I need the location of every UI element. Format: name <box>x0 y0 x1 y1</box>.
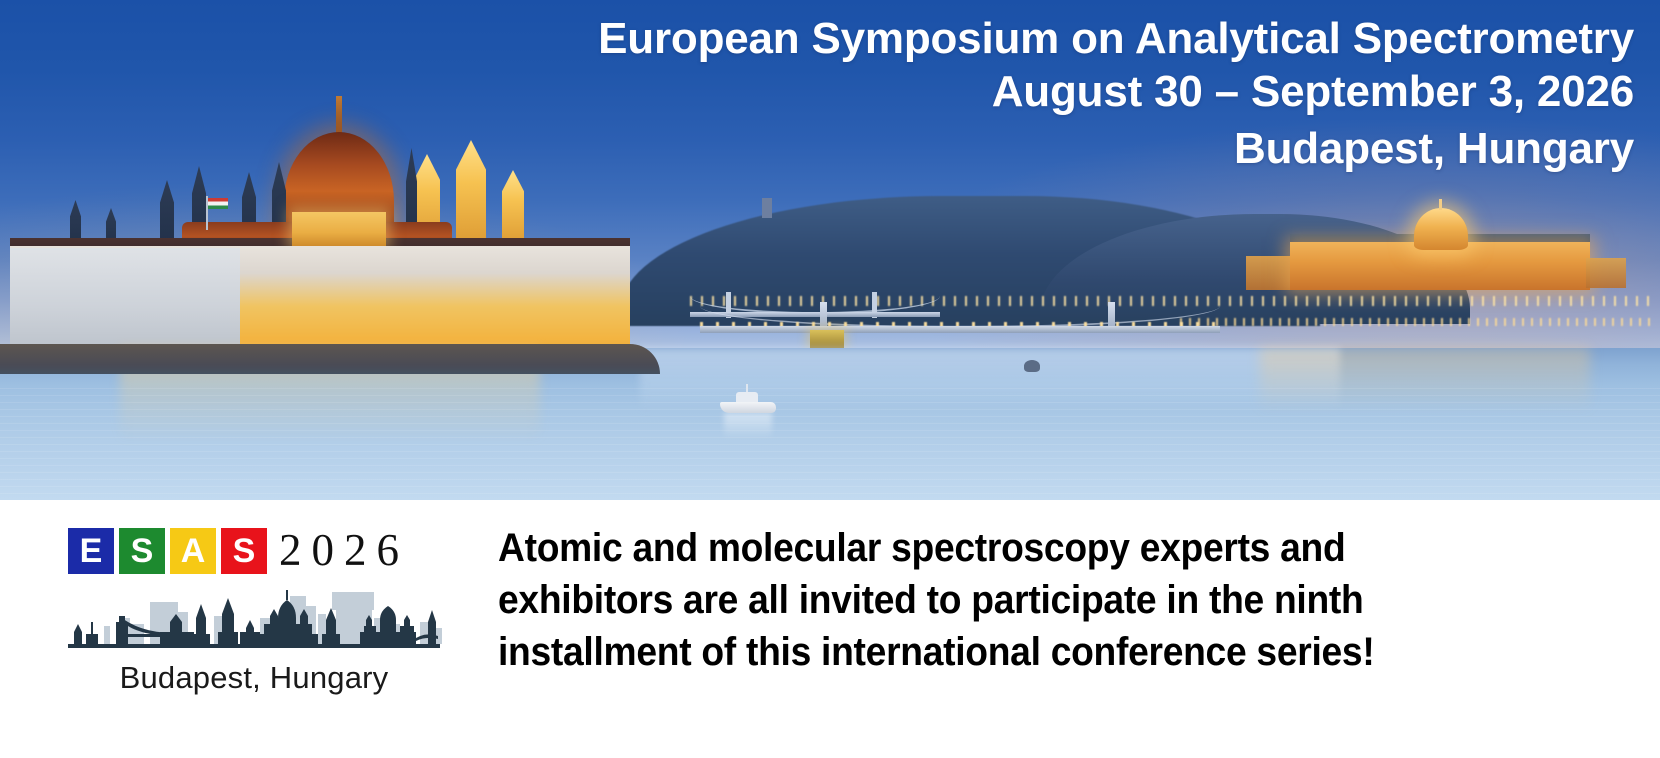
conference-banner: European Symposium on Analytical Spectro… <box>0 0 1660 758</box>
budapest-skyline-icon <box>64 588 444 650</box>
chain-bridge-deck <box>700 326 1220 333</box>
boat-wake <box>724 413 772 439</box>
blurb-line-3: installment of this international confer… <box>498 626 1437 678</box>
parliament-tower-3 <box>502 170 524 246</box>
symposium-location: Budapest, Hungary <box>494 120 1634 177</box>
river-boat <box>720 390 776 416</box>
symposium-title: European Symposium on Analytical Spectro… <box>494 14 1634 63</box>
river-buoy <box>1024 360 1040 372</box>
buda-castle <box>1290 208 1590 298</box>
castle-dome <box>1414 208 1468 250</box>
bottom-panel: E S A S 2026 <box>0 500 1660 758</box>
boat-hull <box>720 402 776 413</box>
logo-square-a: A <box>170 528 216 574</box>
symposium-dates: August 30 – September 3, 2026 <box>494 63 1634 120</box>
blurb-line-2: exhibitors are all invited to participat… <box>498 574 1437 626</box>
logo-square-s-first: S <box>119 528 165 574</box>
logo-square-e: E <box>68 528 114 574</box>
citadella-icon <box>762 198 772 218</box>
logo-caption-location: Budapest, Hungary <box>64 660 444 696</box>
far-shore-lights-right <box>1180 318 1650 326</box>
hero-photo-budapest: European Symposium on Analytical Spectro… <box>0 0 1660 500</box>
invitation-blurb: Atomic and molecular spectroscopy expert… <box>498 522 1437 678</box>
castle-wing-right <box>1586 258 1626 288</box>
logo-year: 2026 <box>279 528 409 573</box>
parliament-spire-1 <box>160 180 174 246</box>
riverbank-left <box>0 344 660 374</box>
parliament-dome-drum <box>292 212 386 246</box>
chain-bridge-pier <box>810 330 844 348</box>
river-ripples <box>0 388 1660 500</box>
hero-text-block: European Symposium on Analytical Spectro… <box>494 14 1634 178</box>
esas-wordmark: E S A S 2026 <box>68 528 458 574</box>
blurb-line-1: Atomic and molecular spectroscopy expert… <box>498 522 1437 574</box>
parliament-tower-2 <box>456 140 486 246</box>
logo-square-s-second: S <box>221 528 267 574</box>
hungarian-flag <box>206 196 208 230</box>
esas-logo: E S A S 2026 <box>68 528 458 574</box>
